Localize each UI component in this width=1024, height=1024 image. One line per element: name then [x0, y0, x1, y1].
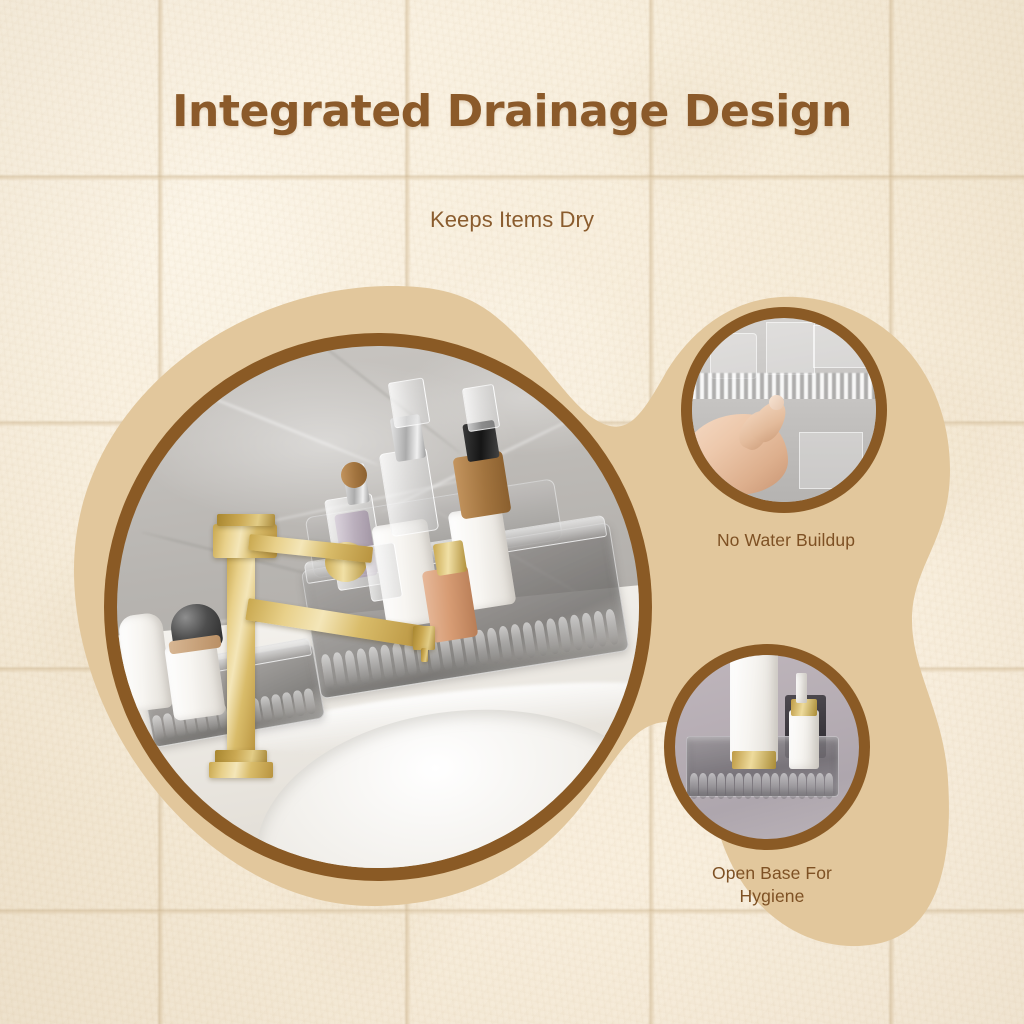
- clear-over-cap: [388, 377, 431, 428]
- open-base-hygiene-image: [675, 655, 859, 839]
- wavy-open-base: [690, 773, 834, 799]
- faucet-column: [227, 552, 255, 762]
- main-product-photo: [104, 333, 652, 881]
- tube-gold-base: [732, 751, 776, 769]
- gold-dropper-cap: [433, 540, 468, 576]
- main-photo-image: [117, 346, 639, 868]
- caption-line-2: Hygiene: [740, 886, 805, 906]
- faucet-aerator: [421, 648, 428, 662]
- caption-line-1: Open Base For: [712, 863, 832, 883]
- caption-open-base-hygiene: Open Base For Hygiene: [627, 862, 917, 909]
- white-tube-bottle: [730, 655, 778, 762]
- clear-spray-cover: [462, 384, 500, 432]
- fingernail: [769, 395, 784, 410]
- caption-no-water-buildup: No Water Buildup: [641, 529, 931, 552]
- dropper-stem: [796, 673, 807, 702]
- feature-photo-no-water-buildup: [681, 307, 887, 513]
- faucet-handle-top: [217, 514, 275, 526]
- no-water-buildup-image: [692, 318, 876, 502]
- dropper-bottle: [789, 710, 818, 769]
- amber-spray-body: [452, 450, 511, 519]
- faucet-spout-tip: [413, 626, 435, 650]
- feature-photo-open-base-hygiene: [664, 644, 870, 850]
- faucet-base: [209, 762, 273, 778]
